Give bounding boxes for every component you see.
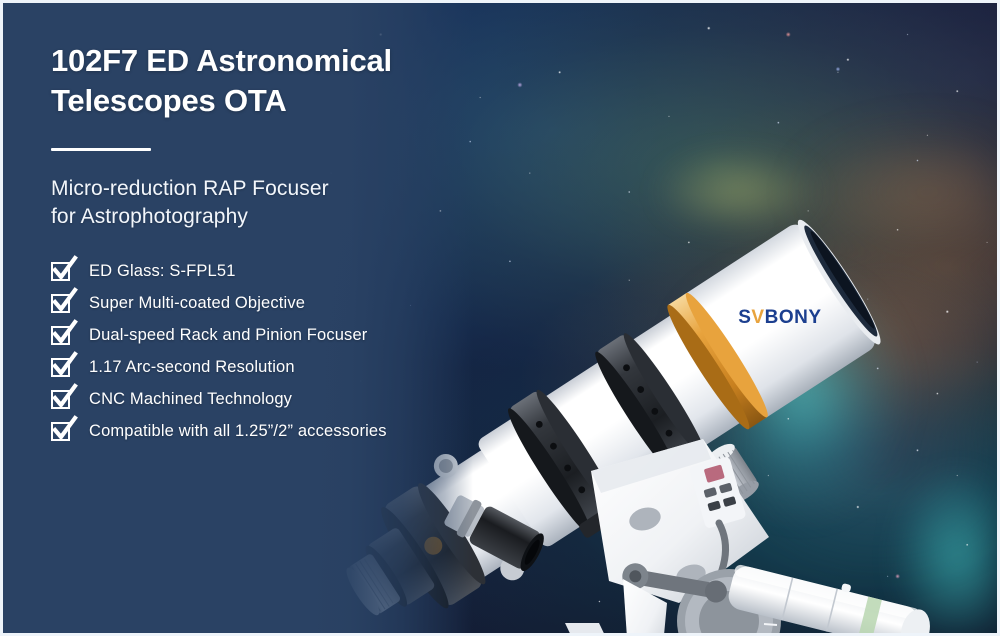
title-divider (51, 148, 151, 151)
panel-content: 102F7 ED Astronomical Telescopes OTA Mic… (51, 41, 471, 448)
subtitle: Micro-reduction RAP Focuser for Astropho… (51, 175, 471, 232)
list-item: Dual-speed Rack and Pinion Focuser (51, 320, 471, 352)
list-item: Super Multi-coated Objective (51, 288, 471, 320)
checkbox-checked-icon (51, 390, 70, 409)
feature-label: Dual-speed Rack and Pinion Focuser (89, 326, 367, 345)
feature-label: 1.17 Arc-second Resolution (89, 358, 295, 377)
feature-label: Compatible with all 1.25”/2” accessories (89, 422, 387, 441)
title-line-2: Telescopes OTA (51, 81, 471, 121)
checkbox-checked-icon (51, 326, 70, 345)
page-title: 102F7 ED Astronomical Telescopes OTA (51, 41, 471, 122)
info-panel: 102F7 ED Astronomical Telescopes OTA Mic… (3, 3, 473, 633)
list-item: ED Glass: S-FPL51 (51, 256, 471, 288)
feature-list: ED Glass: S-FPL51 Super Multi-coated Obj… (51, 256, 471, 448)
svg-text:SVBONY: SVBONY (738, 307, 821, 328)
checkbox-checked-icon (51, 358, 70, 377)
feature-label: Super Multi-coated Objective (89, 294, 305, 313)
title-line-1: 102F7 ED Astronomical (51, 41, 471, 81)
list-item: CNC Machined Technology (51, 384, 471, 416)
checkbox-checked-icon (51, 294, 70, 313)
list-item: 1.17 Arc-second Resolution (51, 352, 471, 384)
checkbox-checked-icon (51, 262, 70, 281)
subtitle-line-1: Micro-reduction RAP Focuser (51, 175, 471, 204)
checkbox-checked-icon (51, 422, 70, 441)
subtitle-line-2: for Astrophotography (51, 203, 471, 232)
product-banner: SVBONY (0, 0, 1000, 636)
feature-label: ED Glass: S-FPL51 (89, 262, 236, 281)
feature-label: CNC Machined Technology (89, 390, 292, 409)
list-item: Compatible with all 1.25”/2” accessories (51, 416, 471, 448)
